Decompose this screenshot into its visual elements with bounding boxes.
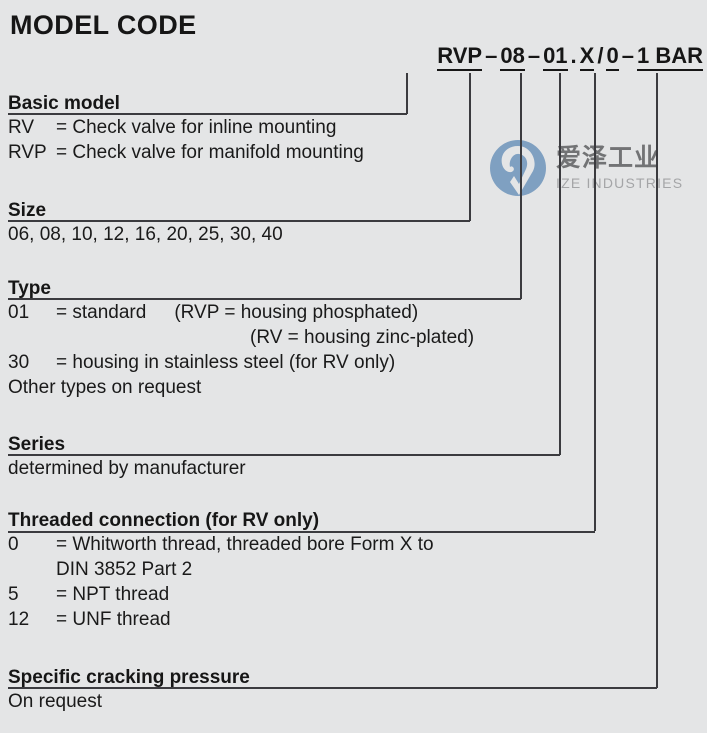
section-heading-cracking-pressure: Specific cracking pressure xyxy=(8,667,250,689)
row-desc: = Check valve for manifold mounting xyxy=(56,140,364,165)
code-separator-3: . xyxy=(568,43,580,68)
section-rule-cracking-pressure xyxy=(8,687,657,689)
model-code-string: RVP–08–01.X/0–1 BAR xyxy=(437,43,703,69)
code-separator-1: – xyxy=(482,43,500,68)
code-segment-size: 08 xyxy=(500,43,524,71)
table-row: RVP = Check valve for manifold mounting xyxy=(8,140,364,165)
section-threaded-connection: Threaded connection (for RV only) 0 = Wh… xyxy=(8,510,434,632)
row-desc: = Check valve for inline mounting xyxy=(56,115,336,140)
section-heading-series: Series xyxy=(8,434,246,456)
row-desc: = UNF thread xyxy=(56,607,171,632)
section-size: Size 06, 08, 10, 12, 16, 20, 25, 30, 40 xyxy=(8,200,283,247)
watermark-english: IZE INDUSTRIES xyxy=(556,176,683,190)
section-basic-model: Basic model RV = Check valve for inline … xyxy=(8,93,364,165)
code-segment-type: 01 xyxy=(543,43,567,71)
leader-line-type xyxy=(520,73,522,299)
section-rule-series xyxy=(8,454,560,456)
section-heading-basic-model: Basic model xyxy=(8,93,364,115)
table-row: 01 = standard (RVP = housing phosphated) xyxy=(8,300,474,325)
section-rule-size xyxy=(8,220,470,222)
code-separator-5: – xyxy=(619,43,637,68)
section-body-cracking-pressure: On request xyxy=(8,689,250,714)
leader-line-threaded-connection xyxy=(594,73,596,531)
row-note: (RVP = housing phosphated) xyxy=(146,300,418,325)
section-heading-threaded-connection: Threaded connection (for RV only) xyxy=(8,510,434,532)
table-row: 30 = housing in stainless steel (for RV … xyxy=(8,350,474,375)
section-body-size: 06, 08, 10, 12, 16, 20, 25, 30, 40 xyxy=(8,222,283,247)
row-desc: = NPT thread xyxy=(56,582,169,607)
row-code: 01 xyxy=(8,300,56,325)
row-note: (RV = housing zinc-plated) xyxy=(8,325,474,350)
row-continuation: DIN 3852 Part 2 xyxy=(8,557,434,582)
watermark-chinese: 爱泽工业 xyxy=(556,146,683,171)
row-code: RVP xyxy=(8,140,56,165)
section-type: Type 01 = standard (RVP = housing phosph… xyxy=(8,278,474,400)
model-code-document: 爱泽工业 IZE INDUSTRIES MODEL CODE RVP–08–01… xyxy=(0,0,707,733)
code-separator-2: – xyxy=(525,43,543,68)
section-body-type: Other types on request xyxy=(8,375,474,400)
code-separator-4: / xyxy=(594,43,606,68)
code-segment-basic-model: RVP xyxy=(437,43,482,71)
section-rule-threaded-connection xyxy=(8,531,595,533)
table-row: 5 = NPT thread xyxy=(8,582,434,607)
section-rule-basic-model xyxy=(8,113,407,115)
code-segment-threaded-connection: 0 xyxy=(606,43,618,71)
section-series: Series determined by manufacturer xyxy=(8,434,246,481)
table-row: RV = Check valve for inline mounting xyxy=(8,115,364,140)
table-row: 0 = Whitworth thread, threaded bore Form… xyxy=(8,532,434,557)
row-code: 0 xyxy=(8,532,56,557)
row-desc: = housing in stainless steel (for RV onl… xyxy=(56,350,395,375)
section-heading-size: Size xyxy=(8,200,283,222)
row-code: 30 xyxy=(8,350,56,375)
leader-line-series xyxy=(559,73,561,455)
section-heading-type: Type xyxy=(8,278,474,300)
ize-logo-icon xyxy=(488,138,548,198)
page-title: MODEL CODE xyxy=(10,10,197,41)
row-code: 5 xyxy=(8,582,56,607)
row-code: 12 xyxy=(8,607,56,632)
table-row: 12 = UNF thread xyxy=(8,607,434,632)
section-rule-type xyxy=(8,298,521,300)
row-desc: = standard xyxy=(56,300,146,325)
leader-line-size xyxy=(469,73,471,221)
watermark-text: 爱泽工业 IZE INDUSTRIES xyxy=(556,146,683,190)
row-desc: = Whitworth thread, threaded bore Form X… xyxy=(56,532,434,557)
code-segment-series: X xyxy=(580,43,595,71)
leader-line-basic-model xyxy=(406,73,408,114)
section-cracking-pressure: Specific cracking pressure On request xyxy=(8,667,250,714)
leader-line-cracking-pressure xyxy=(656,73,658,688)
section-body-series: determined by manufacturer xyxy=(8,456,246,481)
row-code: RV xyxy=(8,115,56,140)
code-segment-cracking-pressure: 1 BAR xyxy=(637,43,703,71)
